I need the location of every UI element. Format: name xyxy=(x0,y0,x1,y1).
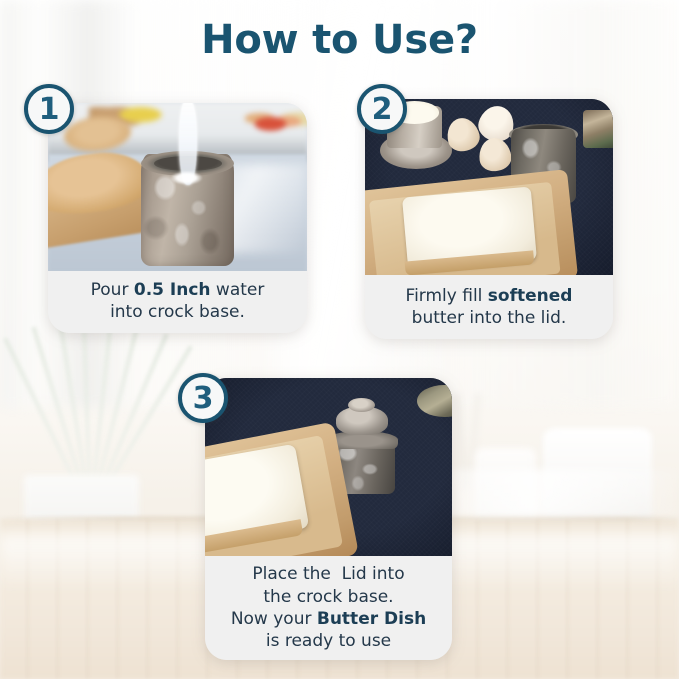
step-2-caption: Firmly fill softened butter into the lid… xyxy=(365,275,613,339)
page-title: How to Use? xyxy=(0,17,679,63)
step-1-photo xyxy=(48,103,307,273)
caption-line: Firmly fill softened xyxy=(406,285,573,307)
infographic-canvas: How to Use? xyxy=(0,0,679,679)
step-1-scene xyxy=(48,103,307,273)
step-3-scene xyxy=(205,378,452,556)
step-card-2: Firmly fill softened butter into the lid… xyxy=(365,99,613,339)
caption-line: is ready to use xyxy=(266,630,391,652)
water-splash xyxy=(170,171,204,185)
step-number-badge-1: 1 xyxy=(24,84,74,134)
step-number-badge-2: 2 xyxy=(357,84,407,134)
caption-line: butter into the lid. xyxy=(412,307,567,329)
step-card-3-body: Place the Lid into the crock base. Now y… xyxy=(205,378,452,660)
step-card-2-body: Firmly fill softened butter into the lid… xyxy=(365,99,613,339)
step-2-scene xyxy=(365,99,613,275)
caption-line: Now your Butter Dish xyxy=(231,608,426,630)
step-3-photo xyxy=(205,378,452,556)
caption-line: Place the Lid into xyxy=(252,563,404,585)
crock-lid-knob xyxy=(348,398,375,412)
corner-plate xyxy=(583,110,613,149)
caption-line: the crock base. xyxy=(263,586,393,608)
vegetables xyxy=(245,106,307,137)
step-card-1: Pour 0.5 Inch water into crock base. xyxy=(48,103,307,333)
step-card-1-body: Pour 0.5 Inch water into crock base. xyxy=(48,103,307,333)
caption-line: Pour 0.5 Inch water xyxy=(91,279,265,301)
step-number-badge-3: 3 xyxy=(178,373,228,423)
step-card-3: Place the Lid into the crock base. Now y… xyxy=(205,378,452,660)
step-1-caption: Pour 0.5 Inch water into crock base. xyxy=(48,271,307,333)
caption-line: into crock base. xyxy=(110,301,245,323)
step-2-photo xyxy=(365,99,613,275)
step-3-caption: Place the Lid into the crock base. Now y… xyxy=(205,556,452,660)
